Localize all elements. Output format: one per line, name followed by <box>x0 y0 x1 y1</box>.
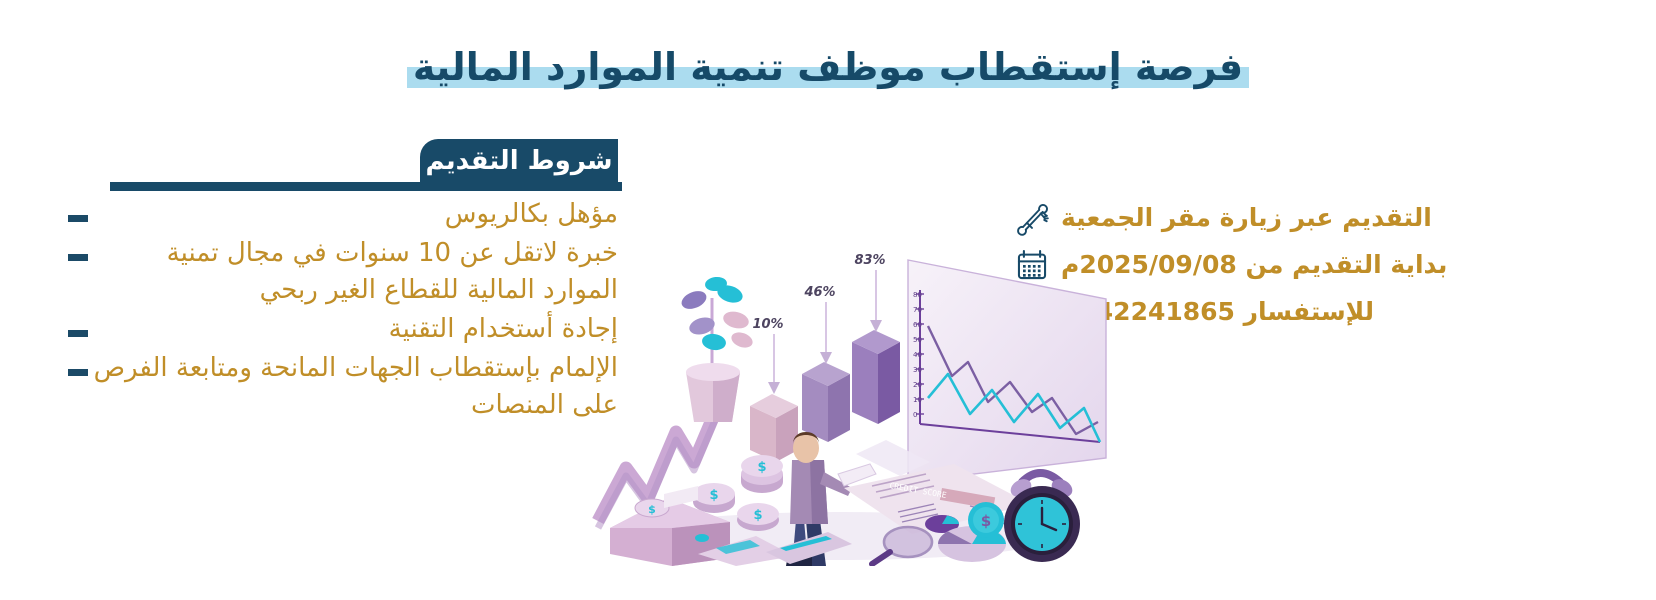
bullet-dash-icon <box>68 215 88 222</box>
bullet-dash-icon <box>68 254 88 261</box>
title-inner: فرصة إستقطاب موظف تنمية الموارد المالية <box>407 44 1249 92</box>
svg-text:50: 50 <box>913 336 922 344</box>
contact-row-location: التقديم عبر زيارة مقر الجمعية <box>1014 200 1432 236</box>
poster-canvas: فرصة إستقطاب موظف تنمية الموارد المالية … <box>0 0 1656 600</box>
bar-label: 10% <box>752 317 783 332</box>
diploma-scroll-icon <box>1014 200 1050 236</box>
bar-2 <box>802 362 850 442</box>
bar-3 <box>852 330 900 424</box>
page-title: فرصة إستقطاب موظف تنمية الموارد المالية <box>0 44 1656 92</box>
bar-1 <box>750 394 798 462</box>
title-text: فرصة إستقطاب موظف تنمية الموارد المالية <box>413 45 1243 89</box>
bar-label: 46% <box>803 285 835 300</box>
svg-text:10: 10 <box>913 396 922 404</box>
svg-text:$: $ <box>981 512 991 530</box>
list-item: إجادة أستخدام التقنية <box>58 311 618 348</box>
condition-text: خبرة لاتقل عن 10 سنوات في مجال تمنية الم… <box>88 235 618 309</box>
svg-text:$: $ <box>648 503 656 516</box>
bullet-dash-icon <box>68 330 88 337</box>
svg-text:80: 80 <box>913 291 922 299</box>
svg-text:40: 40 <box>913 351 922 359</box>
condition-text: إجادة أستخدام التقنية <box>88 311 618 348</box>
list-item: خبرة لاتقل عن 10 سنوات في مجال تمنية الم… <box>58 235 618 309</box>
bullet-dash-icon <box>68 369 88 376</box>
list-item: مؤهل بكالريوس <box>58 196 618 233</box>
contact-text: التقديم عبر زيارة مقر الجمعية <box>1061 203 1432 233</box>
isometric-financial-illustration: 807060 504030 20100 <box>590 236 1120 566</box>
svg-text:$: $ <box>709 488 718 503</box>
condition-text: مؤهل بكالريوس <box>88 196 618 233</box>
svg-text:20: 20 <box>913 381 922 389</box>
svg-text:0: 0 <box>913 411 917 419</box>
conditions-list: مؤهل بكالريوس خبرة لاتقل عن 10 سنوات في … <box>58 196 618 425</box>
alarm-clock <box>1004 473 1080 562</box>
svg-text:$: $ <box>757 460 766 475</box>
bar-label: 83% <box>854 253 885 268</box>
svg-text:$: $ <box>753 508 762 523</box>
section-badge-label: شروط التقديم <box>425 148 612 177</box>
svg-text:30: 30 <box>913 366 922 374</box>
svg-text:70: 70 <box>913 306 922 314</box>
illustration-svg: 807060 504030 20100 <box>590 236 1120 566</box>
potted-plant <box>679 276 755 422</box>
condition-text: الإلمام بإستقطاب الجهات المانحة ومتابعة … <box>88 350 618 424</box>
bar-chart: 10% 46% 83% <box>602 236 930 476</box>
section-badge: شروط التقديم <box>420 139 618 186</box>
svg-text:60: 60 <box>913 321 922 329</box>
line-chart-screen: 807060 504030 20100 <box>908 260 1106 482</box>
list-item: الإلمام بإستقطاب الجهات المانحة ومتابعة … <box>58 350 618 424</box>
